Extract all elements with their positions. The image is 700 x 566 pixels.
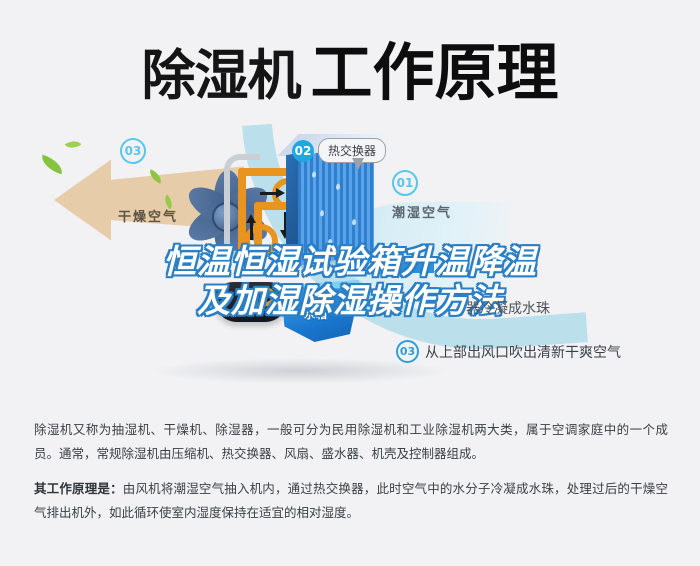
step-line-03: 03 从上部出风口吹出清新干爽空气 — [396, 340, 621, 363]
badge-step-03-diagram: 03 — [120, 138, 146, 164]
inlet-arrow-icon — [378, 258, 434, 276]
page-title: 除湿机工作原理 — [0, 22, 700, 112]
dehumidifier-diagram: 干燥空气 — [0, 110, 700, 410]
page-root: 除湿机工作原理 干燥空气 — [0, 0, 700, 566]
leaf-icon — [39, 155, 66, 175]
page-title-part2: 工作原理 — [310, 36, 558, 109]
paragraph-2: 其工作原理是：由风机将潮湿空气抽入机内，通过热交换器，此时空气中的水分子冷凝成水… — [34, 477, 668, 526]
paragraph-2-lead: 其工作原理是： — [34, 482, 123, 496]
leaf-icon — [65, 137, 82, 152]
article-body: 除湿机又称为抽湿机、干燥机、除湿器，一般可分为民用除湿机和工业除湿机两大类，属于… — [34, 418, 668, 536]
humid-air-label: 潮湿空气 — [392, 202, 452, 221]
step-03-badge: 03 — [396, 340, 419, 363]
step-03-text: 从上部出风口吹出清新干爽空气 — [425, 342, 621, 362]
callout-tail-icon — [352, 158, 364, 170]
badge-step-01-diagram: 01 — [392, 170, 418, 196]
step-02-text: 器冷凝成水珠 — [466, 298, 550, 318]
compressor-coil-icon — [246, 286, 276, 307]
paragraph-2-rest: 由风机将潮湿空气抽入机内，通过热交换器，此时空气中的水分子冷凝成水珠，处理过后的… — [34, 482, 668, 520]
badge-step-02-diagram: 02 — [292, 140, 314, 162]
water-tank-label: 水箱 — [304, 306, 328, 322]
step-line-02: 器冷凝成水珠 — [466, 298, 550, 318]
page-title-part1: 除湿机 — [141, 44, 300, 107]
paragraph-1: 除湿机又称为抽湿机、干燥机、除湿器，一般可分为民用除湿机和工业除湿机两大类，属于… — [34, 418, 668, 467]
